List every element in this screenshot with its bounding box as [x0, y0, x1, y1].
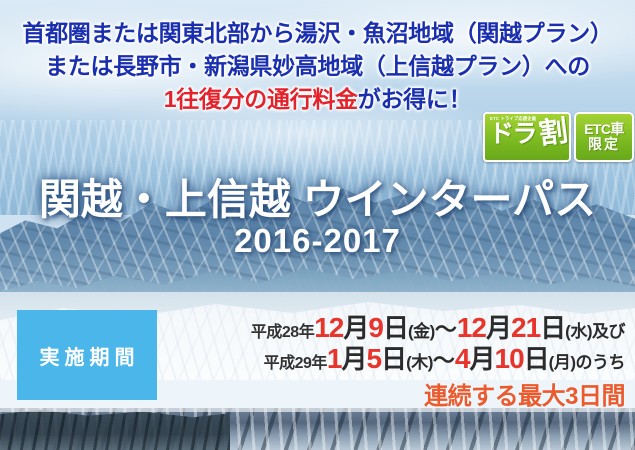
dorawari-logo[interactable]: ETC トライブ応援企画 ドラ 割 [483, 112, 571, 162]
period-row1-weekday-a: (金) [408, 322, 435, 341]
period-row1-month-b: 12 [457, 312, 486, 343]
logo-row: ETC トライブ応援企画 ドラ 割 ETC車 限定 [483, 112, 634, 162]
period-row2-suffix: のうち [576, 353, 626, 372]
etc-only-badge: ETC車 限定 [574, 112, 634, 162]
page-title: 関越・上信越 ウインターパス [0, 166, 635, 227]
period-label-text: 実施期間 [35, 341, 140, 370]
period-row1-weekday-b: (水) [565, 322, 592, 341]
period-row2-tilde: 〜 [433, 348, 455, 373]
period-row1-day-b: 21 [511, 312, 540, 343]
period-row-1: 平成28年12月9日(金)〜12月21日(水)及び [165, 314, 625, 342]
headline-line-1: 首都圏または関東北部から湯沢・魚沼地域（関越プラン） [0, 22, 635, 45]
headline-line-3: 1往復分の通行料金がお得に！ [0, 88, 635, 111]
period-row2-day-a: 5 [366, 343, 381, 374]
period-row2-month-unit-a: 月 [341, 344, 366, 374]
etc-badge-line-2: 限定 [588, 137, 620, 152]
period-detail-block: 平成28年12月9日(金)〜12月21日(水)及び 平成29年1月5日(木)〜4… [165, 314, 625, 411]
period-row2-weekday-b: (月) [549, 353, 576, 372]
dorawari-dora-text: ドラ [489, 122, 536, 147]
period-row2-month-b: 4 [455, 343, 470, 374]
headline-highlight-red: 1往復分の通行料金 [164, 86, 358, 112]
headline-block: 首都圏または関東北部から湯沢・魚沼地域（関越プラン） または長野市・新潟県妙高地… [0, 22, 635, 111]
period-row-3: 連続する最大3日間 [165, 376, 625, 411]
etc-badge-line-1: ETC車 [584, 122, 624, 137]
period-row2-day-unit-b: 日 [524, 344, 549, 374]
period-row2-weekday-a: (木) [406, 353, 433, 372]
period-row1-day-unit-a: 日 [383, 313, 408, 343]
period-row1-month-unit-b: 月 [486, 313, 511, 343]
period-row1-day-unit-b: 日 [540, 313, 565, 343]
period-row2-month-a: 1 [327, 343, 342, 374]
period-row2-day-unit-a: 日 [381, 344, 406, 374]
period-row2-era: 平成29年 [264, 355, 327, 372]
dorawari-wari-text: 割 [537, 117, 569, 149]
period-row1-month-a: 12 [314, 312, 343, 343]
period-row1-era: 平成28年 [251, 324, 314, 341]
period-label-box: 実施期間 [17, 310, 157, 400]
period-row2-month-unit-b: 月 [469, 344, 494, 374]
headline-highlight-blue: がお得に！ [358, 86, 472, 112]
period-row1-suffix: 及び [592, 322, 625, 341]
period-row1-day-a: 9 [368, 312, 383, 343]
winter-pass-banner: 首都圏または関東北部から湯沢・魚沼地域（関越プラン） または長野市・新潟県妙高地… [0, 0, 635, 450]
period-duration-text: 連続する最大3日間 [424, 383, 625, 410]
period-row1-tilde: 〜 [435, 317, 457, 342]
period-row1-month-unit-a: 月 [343, 313, 368, 343]
period-row-2: 平成29年1月5日(木)〜4月10日(月)のうち [165, 345, 625, 373]
period-row2-day-b: 10 [495, 343, 524, 374]
headline-line-2: または長野市・新潟県妙高地域（上信越プラン）への [0, 55, 635, 78]
season-year-subtitle: 2016-2017 [0, 222, 635, 260]
